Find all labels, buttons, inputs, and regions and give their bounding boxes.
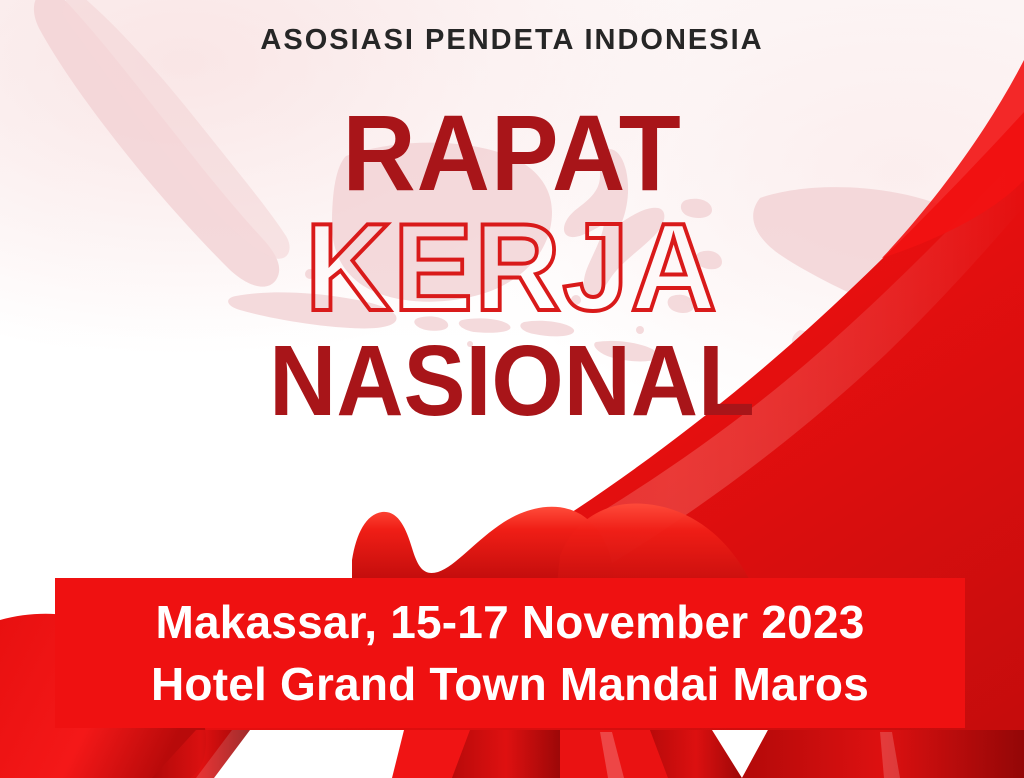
event-date-location: Makassar, 15-17 November 2023 [55,592,965,654]
poster-canvas: ASOSIASI PENDETA INDONESIA RAPAT KERJA N… [0,0,1024,778]
event-venue: Hotel Grand Town Mandai Maros [55,654,965,716]
headline-stack: ASOSIASI PENDETA INDONESIA RAPAT KERJA N… [0,0,1024,429]
organization-name: ASOSIASI PENDETA INDONESIA [0,26,1024,55]
title-line-kerja: KERJA [20,210,1003,328]
event-info-banner: Makassar, 15-17 November 2023 Hotel Gran… [55,578,965,728]
title-line-rapat: RAPAT [31,103,994,202]
title-line-nasional: NASIONAL [36,334,988,429]
